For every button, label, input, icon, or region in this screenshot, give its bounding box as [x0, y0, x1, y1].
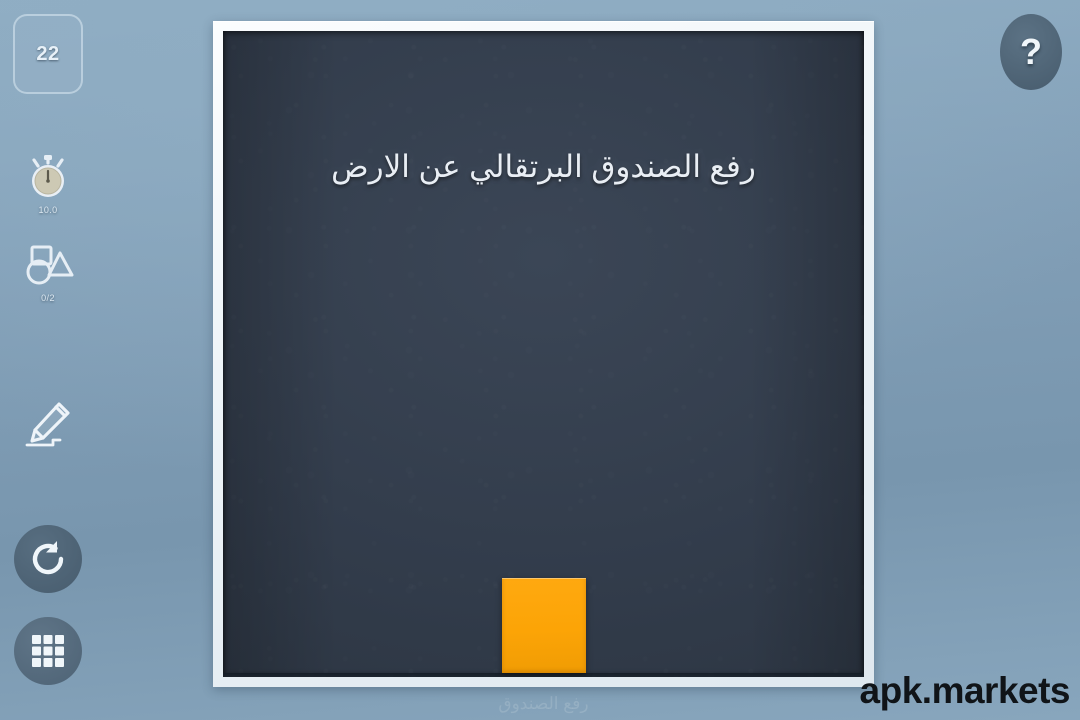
objective-text: رفع الصندوق البرتقالي عن الارض: [223, 149, 864, 185]
ground-line: [223, 673, 864, 677]
draw-tool-button[interactable]: [14, 390, 82, 458]
help-button[interactable]: ?: [1000, 14, 1062, 90]
shapes-value: 0/2: [0, 293, 96, 303]
left-toolbar: 22 10.0: [0, 0, 96, 720]
game-board-frame: رفع الصندوق البرتقالي عن الارض: [213, 21, 874, 687]
restart-level-button[interactable]: [14, 525, 82, 593]
levels-menu-button[interactable]: [14, 617, 82, 685]
refresh-icon: [27, 538, 69, 580]
shapes-icon: [0, 240, 96, 290]
pencil-draw-icon: [19, 395, 77, 453]
orange-box[interactable]: [502, 578, 586, 673]
stopwatch-icon: [0, 152, 96, 202]
timer-value: 10.0: [0, 205, 96, 215]
game-board-canvas[interactable]: رفع الصندوق البرتقالي عن الارض: [223, 31, 864, 677]
board-caption: رفع الصندوق: [213, 694, 874, 718]
question-mark-icon: ?: [1020, 34, 1042, 70]
level-badge[interactable]: 22: [13, 14, 83, 94]
level-number: 22: [36, 43, 59, 66]
shapes-stat: 0/2: [0, 240, 96, 303]
timer-stat: 10.0: [0, 152, 96, 215]
grid-menu-icon: [28, 631, 68, 671]
watermark: apk.markets: [860, 670, 1070, 712]
